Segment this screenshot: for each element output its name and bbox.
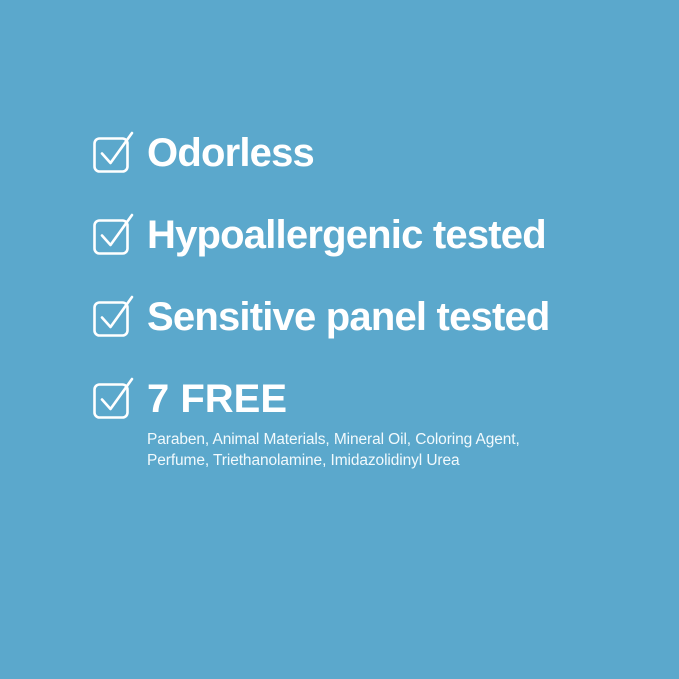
checkbox-checked-icon (93, 213, 135, 259)
feature-body: Sensitive panel tested (147, 295, 623, 338)
ingredient-line: Perfume, Triethanolamine, Imidazolidinyl… (147, 450, 587, 471)
feature-label: 7 FREE (147, 378, 623, 420)
feature-label: Sensitive panel tested (147, 296, 623, 338)
feature-item-odorless: Odorless (93, 131, 623, 177)
feature-body: Odorless (147, 131, 623, 174)
feature-body: Hypoallergenic tested (147, 213, 623, 256)
feature-label: Odorless (147, 132, 623, 174)
ingredient-line: Paraben, Animal Materials, Mineral Oil, … (147, 429, 587, 450)
checkbox-checked-icon (93, 377, 135, 423)
feature-item-sensitive-panel-tested: Sensitive panel tested (93, 295, 623, 341)
feature-label: Hypoallergenic tested (147, 214, 623, 256)
checkbox-checked-icon (93, 131, 135, 177)
feature-item-hypoallergenic-tested: Hypoallergenic tested (93, 213, 623, 259)
product-claims-poster: Odorless Hypoallergenic tested (0, 0, 679, 679)
checkbox-checked-icon (93, 295, 135, 341)
feature-body: 7 FREE Paraben, Animal Materials, Minera… (147, 377, 623, 471)
free-from-ingredient-list: Paraben, Animal Materials, Mineral Oil, … (147, 429, 587, 471)
feature-item-7-free: 7 FREE Paraben, Animal Materials, Minera… (93, 377, 623, 471)
feature-list: Odorless Hypoallergenic tested (93, 131, 623, 471)
